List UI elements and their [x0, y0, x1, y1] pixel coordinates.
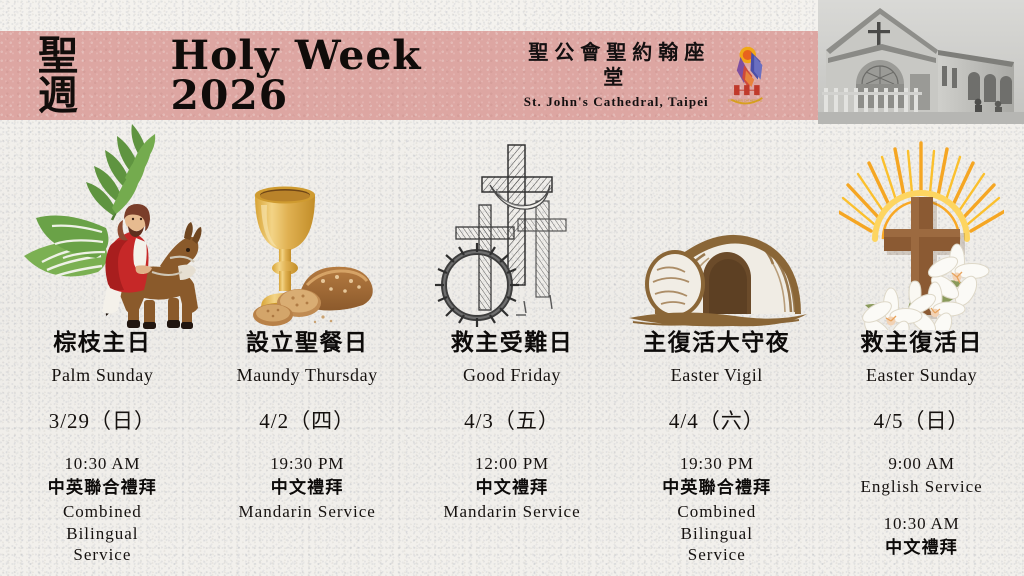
- service-time: 10:30 AM: [819, 512, 1024, 537]
- day-name-chinese: 棕枝主日: [0, 330, 205, 358]
- three-crosses-with-crown-of-thorns-icon: [410, 130, 615, 330]
- day-column-easter-vigil: 主復活大守夜 Easter Vigil 4/4（六） 19:30 PM 中英聯合…: [614, 130, 819, 576]
- service-time: 19:30 PM: [614, 452, 819, 477]
- day-date: 4/2（四）: [205, 405, 410, 435]
- cathedral-identity: 聖公會聖約翰座堂 St. John's Cathedral, Taipei ST…: [519, 40, 766, 112]
- service-name-english-line: Service: [614, 544, 819, 566]
- service-name-english-line: Combined: [614, 501, 819, 523]
- service-name-english: English Service: [819, 476, 1024, 498]
- service-name-chinese: 中英聯合禮拜: [0, 476, 205, 501]
- day-date: 3/29（日）: [0, 405, 205, 435]
- cathedral-building-photo: [818, 0, 1024, 124]
- cathedral-names: 聖公會聖約翰座堂 St. John's Cathedral, Taipei: [519, 40, 714, 111]
- service-name-chinese: 中文禮拜: [819, 536, 1024, 561]
- service-name-english: Mandarin Service: [205, 501, 410, 523]
- chalice-and-bread-icon: [205, 130, 410, 330]
- day-text-easter-sunday: 救主復活日 Easter Sunday 4/5（日） 9:00 AM Engli…: [819, 330, 1024, 561]
- service-name-english: Combined Bilingual Service: [0, 501, 205, 566]
- cross-with-sunrise-and-lilies-icon: [819, 130, 1024, 330]
- service-name-english-line: Bilingual: [0, 523, 205, 545]
- service-name-english: Mandarin Service: [410, 501, 615, 523]
- service-time: 10:30 AM: [0, 452, 205, 477]
- day-name-chinese: 救主復活日: [819, 330, 1024, 358]
- day-name-english: Easter Vigil: [614, 365, 819, 386]
- service-time: 19:30 PM: [205, 452, 410, 477]
- cathedral-name-english: St. John's Cathedral, Taipei: [519, 93, 714, 111]
- day-column-palm-sunday: 棕枝主日 Palm Sunday 3/29（日） 10:30 AM 中英聯合禮拜…: [0, 130, 205, 576]
- service-entry: 10:30 AM 中文禮拜: [819, 512, 1024, 561]
- day-text-easter-vigil: 主復活大守夜 Easter Vigil 4/4（六） 19:30 PM 中英聯合…: [614, 330, 819, 566]
- day-column-easter-sunday: 救主復活日 Easter Sunday 4/5（日） 9:00 AM Engli…: [819, 130, 1024, 576]
- day-text-good-friday: 救主受難日 Good Friday 4/3（五） 12:00 PM 中文禮拜 M…: [410, 330, 615, 523]
- poster-title-chinese: 聖 週: [38, 36, 152, 116]
- day-text-maundy-thursday: 設立聖餐日 Maundy Thursday 4/2（四） 19:30 PM 中文…: [205, 330, 410, 523]
- holy-week-poster: 聖 週 Holy Week 2026 聖公會聖約翰座堂 St. John's C…: [0, 0, 1024, 576]
- service-name-chinese: 中文禮拜: [410, 476, 615, 501]
- day-name-english: Good Friday: [410, 365, 615, 386]
- day-name-english: Easter Sunday: [819, 365, 1024, 386]
- service-name-english-line: Service: [0, 544, 205, 566]
- service-name-chinese: 中英聯合禮拜: [614, 476, 819, 501]
- poster-title-english: Holy Week 2026: [170, 36, 522, 116]
- service-name-english-line: Bilingual: [614, 523, 819, 545]
- empty-tomb-icon: [614, 130, 819, 330]
- day-name-chinese: 設立聖餐日: [205, 330, 410, 358]
- day-name-chinese: 主復活大守夜: [614, 330, 819, 358]
- service-entry: 19:30 PM 中英聯合禮拜 Combined Bilingual Servi…: [614, 452, 819, 567]
- service-entry: 19:30 PM 中文禮拜 Mandarin Service: [205, 452, 410, 524]
- header-banner: 聖 週 Holy Week 2026 聖公會聖約翰座堂 St. John's C…: [0, 31, 818, 120]
- day-date: 4/5（日）: [819, 405, 1024, 435]
- jesus-on-donkey-with-palms-icon: [0, 130, 205, 330]
- day-columns: 棕枝主日 Palm Sunday 3/29（日） 10:30 AM 中英聯合禮拜…: [0, 130, 1024, 576]
- service-time: 9:00 AM: [819, 452, 1024, 477]
- svg-text:ST JOHNS CATHEDRAL: ST JOHNS CATHEDRAL: [728, 98, 763, 102]
- day-name-english: Maundy Thursday: [205, 365, 410, 386]
- day-name-english: Palm Sunday: [0, 365, 205, 386]
- service-name-english: Combined Bilingual Service: [614, 501, 819, 566]
- day-name-chinese: 救主受難日: [410, 330, 615, 358]
- service-time: 12:00 PM: [410, 452, 615, 477]
- day-date: 4/3（五）: [410, 405, 615, 435]
- service-entry: 9:00 AM English Service: [819, 452, 1024, 499]
- day-date: 4/4（六）: [614, 405, 819, 435]
- day-column-maundy-thursday: 設立聖餐日 Maundy Thursday 4/2（四） 19:30 PM 中文…: [205, 130, 410, 576]
- cathedral-emblem: ST JOHNS CATHEDRAL: [724, 40, 766, 112]
- cathedral-name-chinese: 聖公會聖約翰座堂: [519, 40, 714, 90]
- day-column-good-friday: 救主受難日 Good Friday 4/3（五） 12:00 PM 中文禮拜 M…: [410, 130, 615, 576]
- service-name-chinese: 中文禮拜: [205, 476, 410, 501]
- day-text-palm-sunday: 棕枝主日 Palm Sunday 3/29（日） 10:30 AM 中英聯合禮拜…: [0, 330, 205, 566]
- service-name-english-line: Combined: [0, 501, 205, 523]
- service-entry: 12:00 PM 中文禮拜 Mandarin Service: [410, 452, 615, 524]
- service-entry: 10:30 AM 中英聯合禮拜 Combined Bilingual Servi…: [0, 452, 205, 567]
